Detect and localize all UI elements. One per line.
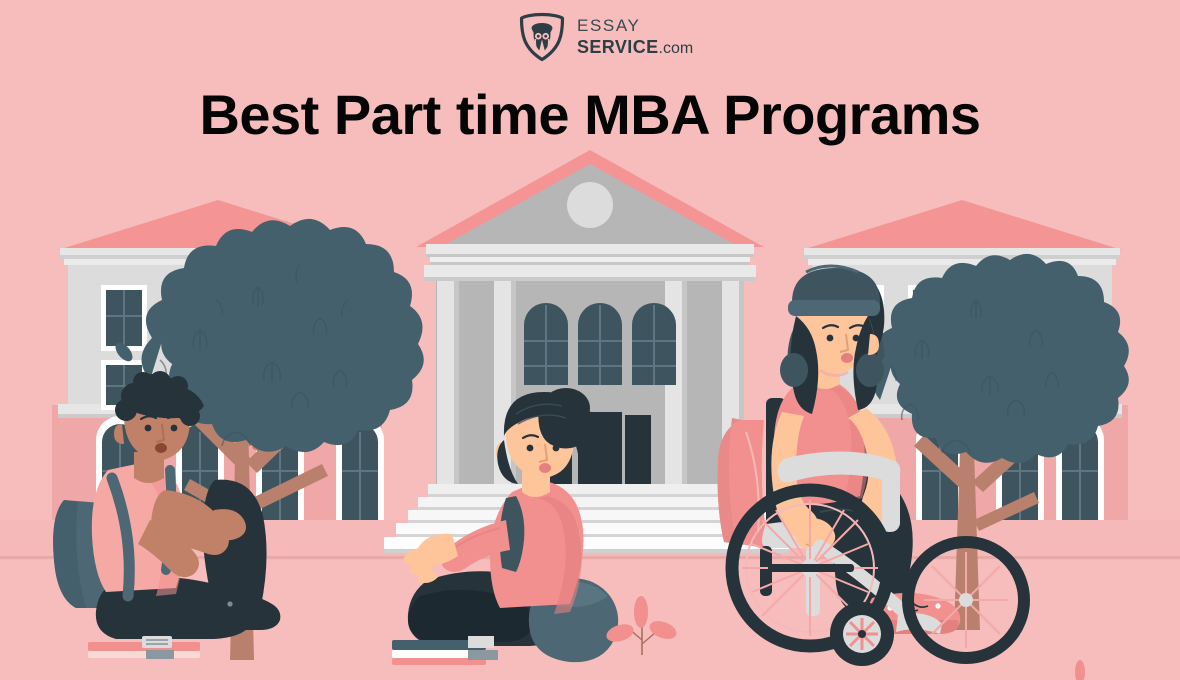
owl-shield-icon [518, 12, 566, 62]
page-title: Best Part time MBA Programs [0, 82, 1180, 147]
brand-domain-text: .com [659, 40, 694, 57]
book-stack-center [392, 636, 498, 665]
brand-line-one: ESSAY [577, 17, 693, 34]
banner-image: ESSAY SERVICE.com Best Part time MBA Pro… [0, 0, 1180, 680]
brand-logo[interactable]: ESSAY SERVICE.com [518, 12, 693, 62]
brand-service-text: SERVICE [577, 37, 659, 57]
brand-line-two: SERVICE.com [577, 38, 693, 57]
brand-wordmark: ESSAY SERVICE.com [577, 17, 693, 57]
